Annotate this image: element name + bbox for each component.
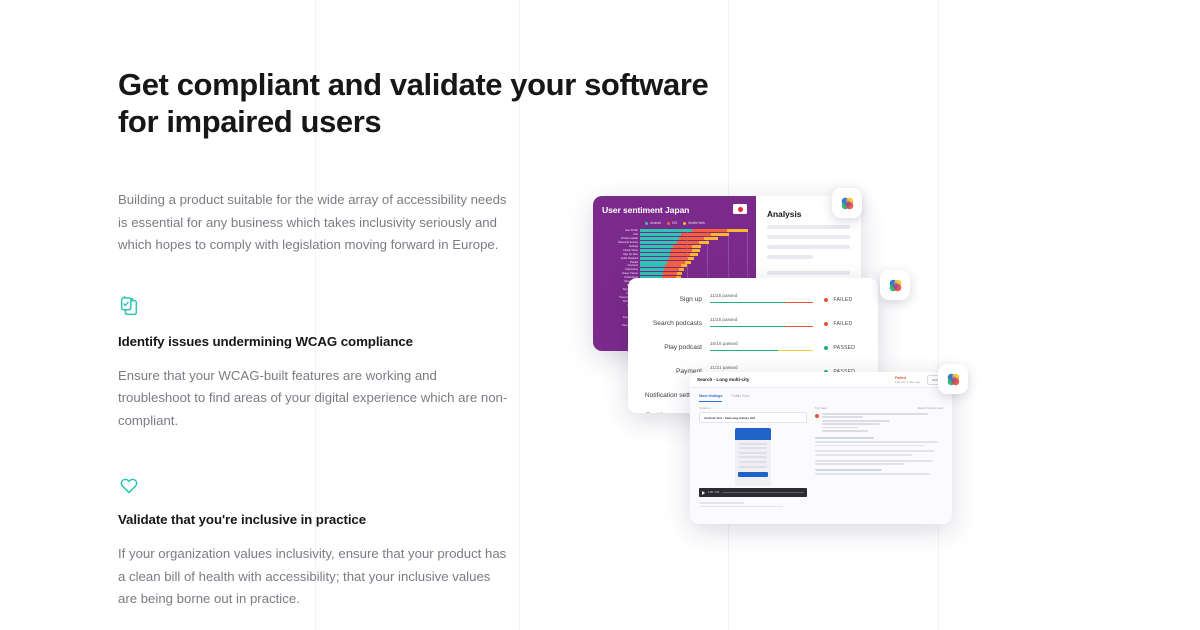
chart-bar-segment bbox=[688, 257, 694, 260]
chart-bar-label: Checkout bbox=[627, 264, 638, 267]
step-fail-dot bbox=[815, 414, 819, 418]
test-row[interactable]: Search podcasts11/15 passedFAILED bbox=[628, 312, 878, 336]
logo-petals bbox=[887, 277, 904, 294]
page-title: Get compliant and validate your software… bbox=[118, 66, 728, 140]
step-paragraph-1 bbox=[815, 437, 943, 446]
chart-bar-row: Family Share bbox=[640, 249, 748, 252]
chart-bar-segment bbox=[671, 249, 692, 252]
chart-bar-segment bbox=[640, 245, 673, 248]
legend-entry: Android bbox=[645, 221, 661, 225]
chart-bar-label: Cart bbox=[633, 233, 638, 236]
feature-item-compliance: Identify issues undermining WCAG complia… bbox=[118, 296, 518, 433]
step-paragraph-2 bbox=[815, 450, 943, 455]
chart-bar-segment bbox=[673, 245, 692, 248]
detail-meta: Last run: 2 days ago bbox=[895, 380, 920, 384]
chart-bar-segment bbox=[640, 241, 677, 244]
device-chip: Android 12.0 · Samsung Galaxy S21 bbox=[699, 412, 807, 423]
test-progress-bar bbox=[710, 350, 813, 352]
logo-petals bbox=[945, 371, 962, 388]
feature-body: Ensure that your WCAG-built features are… bbox=[118, 365, 508, 433]
chart-bar-label: Settings bbox=[629, 245, 638, 248]
page-root: Get compliant and validate your software… bbox=[0, 0, 1200, 630]
chart-bar-segment bbox=[727, 229, 748, 232]
chart-bar-label: Sign Up Flow bbox=[623, 253, 638, 256]
chart-bar-segment bbox=[640, 233, 681, 236]
logo-petals bbox=[839, 195, 856, 212]
chart-bar-segment bbox=[692, 245, 700, 248]
video-player-controls[interactable]: 1:08 / 1:54 bbox=[699, 488, 807, 497]
test-row[interactable]: Play podcast16/16 passedPASSED bbox=[628, 336, 878, 360]
tab-public-run[interactable]: Public Run bbox=[731, 394, 748, 402]
test-passed-count: 11/15 passed bbox=[710, 293, 737, 298]
step-paragraph-3 bbox=[815, 460, 943, 465]
chart-bar-row: Audio Playback bbox=[640, 257, 748, 260]
chart-bar-segment bbox=[640, 268, 664, 271]
chart-bar-segment bbox=[677, 241, 698, 244]
video-timestamp: 1:08 / 1:54 bbox=[708, 491, 719, 494]
chart-bar-row: Passcode Service bbox=[640, 241, 748, 244]
test-progress: 16/16 passed bbox=[710, 345, 813, 352]
detail-body: Tested on Android 12.0 · Samsung Galaxy … bbox=[690, 402, 952, 509]
product-screenshot-stack: User sentiment Japan AndroidiOSMobile We… bbox=[560, 170, 990, 550]
chart-bar-label: Passcode Service bbox=[618, 241, 638, 244]
chart-bar-segment bbox=[640, 257, 669, 260]
chart-bar-segment bbox=[681, 233, 710, 236]
test-status-badge: FAILED bbox=[813, 321, 869, 327]
chart-bar-segment bbox=[670, 253, 690, 256]
heart-icon bbox=[118, 474, 140, 496]
device-label: Tested on bbox=[699, 407, 807, 410]
sentiment-card-title: User sentiment Japan bbox=[602, 205, 748, 215]
feature-body: If your organization values inclusivity,… bbox=[118, 543, 508, 611]
chart-bar-segment bbox=[640, 253, 670, 256]
test-row[interactable]: Sign up11/15 passedFAILED bbox=[628, 288, 878, 312]
detail-title: Search - Long multi-city bbox=[697, 377, 749, 382]
chart-bar-segment bbox=[640, 261, 667, 264]
chart-bar-segment bbox=[640, 264, 665, 267]
chart-bar-segment bbox=[665, 264, 681, 267]
japan-flag-icon bbox=[733, 204, 747, 214]
chart-bar-segment bbox=[679, 268, 684, 271]
chart-bar-segment bbox=[711, 233, 729, 236]
product-logo-icon bbox=[880, 270, 910, 300]
clipboard-check-icon bbox=[118, 296, 140, 318]
chart-bar-row: Cart bbox=[640, 233, 748, 236]
test-name: Play podcast bbox=[638, 344, 710, 352]
chart-bar-label: Audio Playback bbox=[621, 257, 638, 260]
tab-most-findings[interactable]: Most findings bbox=[699, 394, 722, 402]
chart-bar-segment bbox=[640, 272, 663, 275]
test-progress-bar bbox=[710, 302, 813, 304]
detail-steps-column: Test steps Report this test result bbox=[815, 407, 943, 509]
play-icon[interactable] bbox=[702, 491, 705, 495]
chart-bar-row: Playlist bbox=[640, 261, 748, 264]
detail-tabs: Most findings Public Run bbox=[690, 388, 952, 402]
legend-entry: Mobile Web bbox=[683, 221, 705, 225]
steps-label: Test steps bbox=[815, 407, 827, 410]
chart-bar-segment bbox=[692, 229, 726, 232]
chart-bar-row: User Profile bbox=[640, 229, 748, 232]
step-lines bbox=[822, 413, 943, 433]
video-scrubber[interactable] bbox=[722, 492, 804, 493]
content-column: Get compliant and validate your software… bbox=[118, 66, 518, 611]
chart-bar-segment bbox=[640, 237, 679, 240]
intro-paragraph: Building a product suitable for the wide… bbox=[118, 189, 508, 257]
chart-bar-segment bbox=[640, 249, 671, 252]
chart-bar-row: Usage Tracker bbox=[640, 272, 748, 275]
chart-bar-segment bbox=[704, 237, 718, 240]
chart-bar-row: Settings bbox=[640, 245, 748, 248]
chart-bar-segment bbox=[699, 241, 709, 244]
chart-bar-label: Usage Tracker bbox=[622, 272, 638, 275]
test-passed-count: 16/16 passed bbox=[710, 341, 738, 346]
chart-bar-segment bbox=[692, 249, 699, 252]
chart-bar-segment bbox=[679, 237, 703, 240]
test-status-badge: PASSED bbox=[813, 345, 869, 351]
detail-footnote bbox=[699, 502, 807, 507]
detail-device-column: Tested on Android 12.0 · Samsung Galaxy … bbox=[699, 407, 807, 509]
feature-title: Identify issues undermining WCAG complia… bbox=[118, 334, 518, 349]
chart-bar-segment bbox=[677, 272, 682, 275]
step-paragraph-4 bbox=[815, 469, 943, 474]
chart-bar-label: User Profile bbox=[625, 229, 638, 232]
chart-bar-segment bbox=[663, 272, 677, 275]
product-logo-icon bbox=[832, 188, 862, 218]
chart-bar-label: Product update bbox=[621, 237, 638, 240]
chart-bar-row: Sign Up Flow bbox=[640, 253, 748, 256]
test-progress: 11/15 passed bbox=[710, 321, 813, 328]
report-link[interactable]: Report this test result bbox=[918, 407, 943, 410]
product-logo-icon bbox=[938, 364, 968, 394]
test-progress-bar bbox=[710, 326, 813, 328]
chart-bar-label: Playlist bbox=[630, 261, 638, 264]
chart-bar-segment bbox=[669, 257, 688, 260]
test-name: Sign up bbox=[638, 296, 710, 304]
chart-bar-label: Onboarding bbox=[625, 268, 638, 271]
legend-entry: iOS bbox=[667, 221, 677, 225]
chart-bar-segment bbox=[681, 264, 687, 267]
detail-header: Search - Long multi-city Failed Last run… bbox=[690, 372, 952, 388]
chart-bar-label: Family Share bbox=[623, 249, 638, 252]
test-progress: 11/15 passed bbox=[710, 297, 813, 304]
feature-title: Validate that you're inclusive in practi… bbox=[118, 512, 518, 527]
chart-bar-segment bbox=[690, 253, 697, 256]
test-detail-card[interactable]: Search - Long multi-city Failed Last run… bbox=[690, 372, 952, 524]
chart-bar-segment bbox=[667, 261, 685, 264]
chart-bar-segment bbox=[640, 229, 692, 232]
chart-bar-row: Onboarding bbox=[640, 268, 748, 271]
chart-bar-segment bbox=[685, 261, 691, 264]
test-status-badge: FAILED bbox=[813, 297, 869, 303]
feature-item-inclusive: Validate that you're inclusive in practi… bbox=[118, 474, 518, 611]
test-name: Search podcasts bbox=[638, 320, 710, 328]
chart-legend: AndroidiOSMobile Web bbox=[602, 221, 748, 225]
test-passed-count: 11/15 passed bbox=[710, 317, 737, 322]
chart-bar-segment bbox=[664, 268, 679, 271]
failed-step-item bbox=[815, 413, 943, 433]
test-passed-count: 21/21 passed bbox=[710, 365, 738, 370]
session-replay-preview[interactable] bbox=[735, 428, 771, 486]
chart-bar-row: Checkout bbox=[640, 264, 748, 267]
chart-bar-row: Product update bbox=[640, 237, 748, 240]
